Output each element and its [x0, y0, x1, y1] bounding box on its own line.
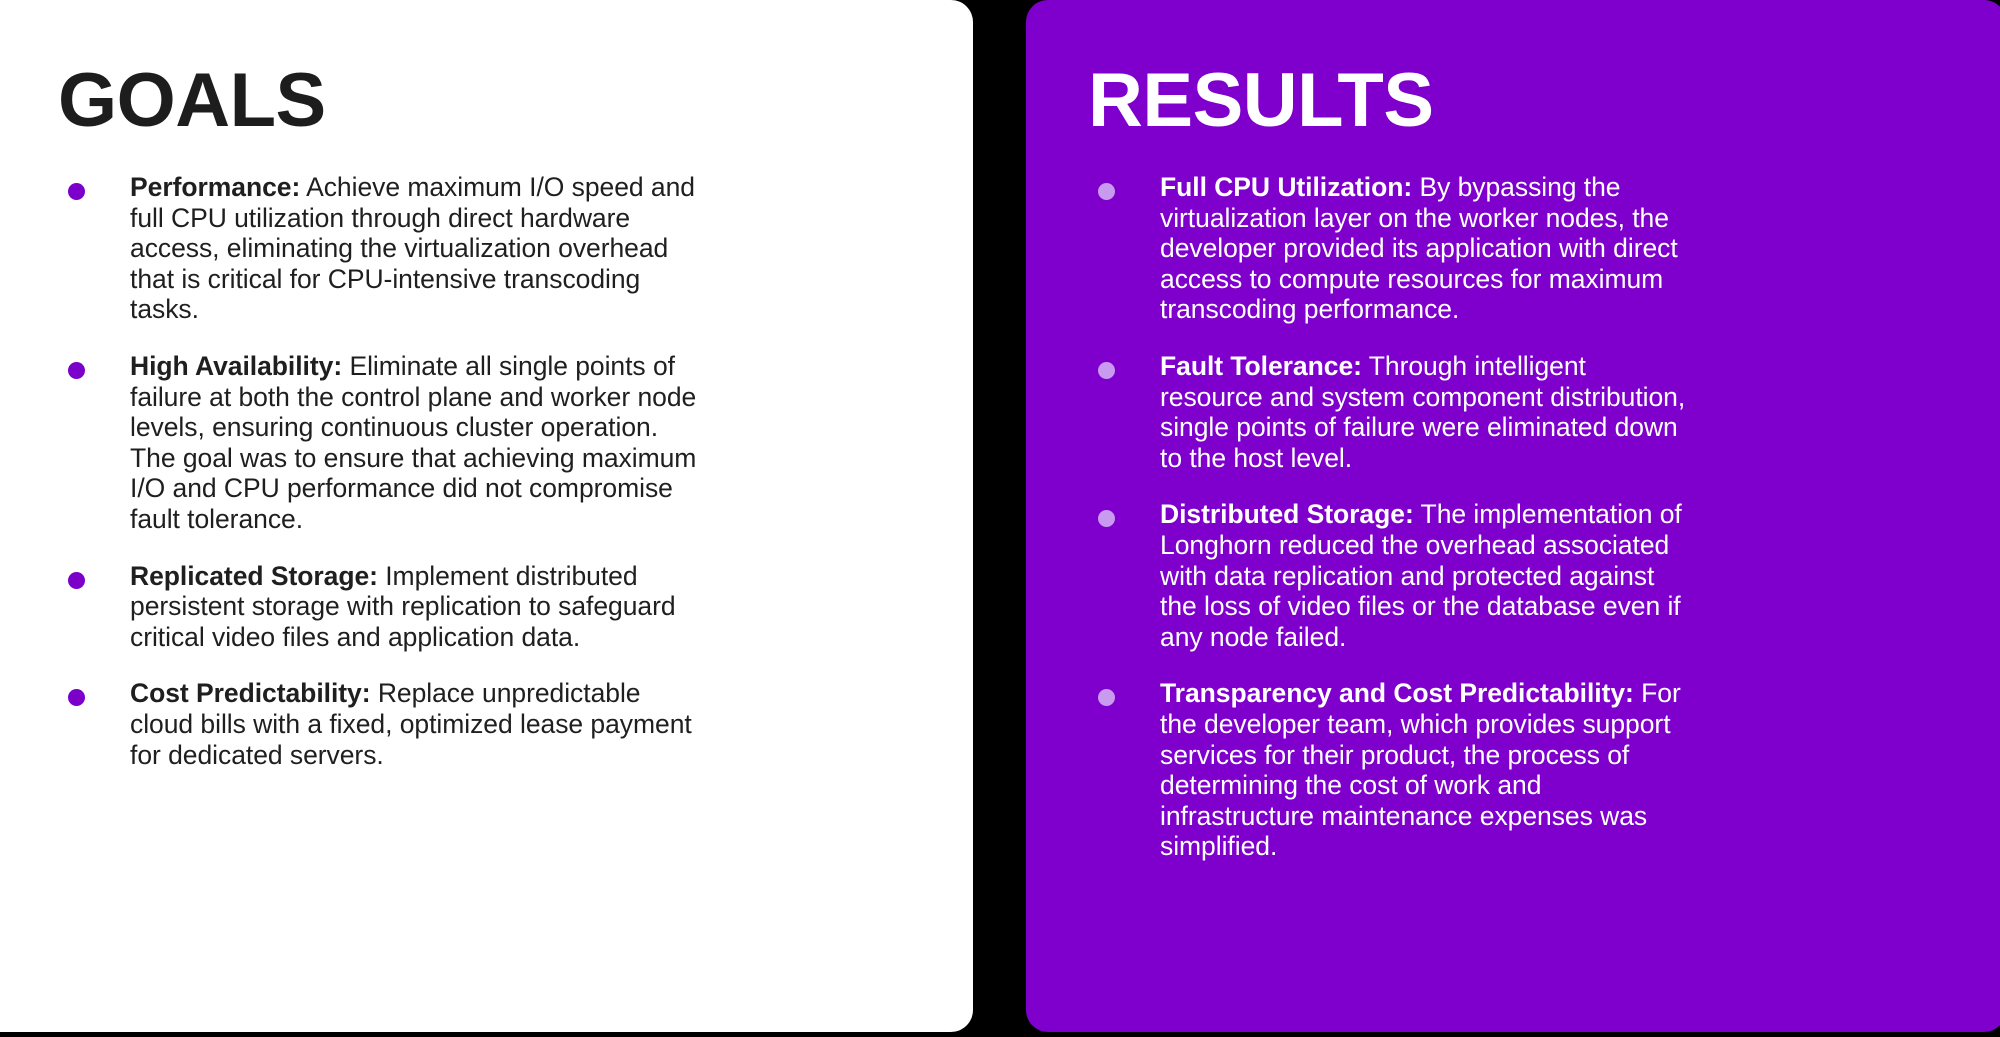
bullet-term: High Availability:: [130, 351, 342, 381]
results-bullet-list: Full CPU Utilization: By bypassing the v…: [1090, 172, 1690, 862]
list-item: Fault Tolerance: Through intelligent res…: [1090, 351, 1690, 473]
list-item: Performance: Achieve maximum I/O speed a…: [60, 172, 710, 325]
bullet-term: Distributed Storage:: [1160, 499, 1414, 529]
bullet-dot-icon: [1098, 689, 1115, 706]
bullet-term: Performance:: [130, 172, 300, 202]
bullet-dot-icon: [68, 572, 85, 589]
list-item: Full CPU Utilization: By bypassing the v…: [1090, 172, 1690, 325]
goals-heading: GOALS: [58, 63, 326, 139]
bullet-text: Replicated Storage: Implement distribute…: [130, 561, 710, 653]
bullet-text: Transparency and Cost Predictability: Fo…: [1160, 678, 1690, 862]
bullet-text: High Availability: Eliminate all single …: [130, 351, 710, 535]
list-item: Transparency and Cost Predictability: Fo…: [1090, 678, 1690, 862]
list-item: Replicated Storage: Implement distribute…: [60, 561, 710, 653]
bullet-term: Replicated Storage:: [130, 561, 378, 591]
bullet-text: Distributed Storage: The implementation …: [1160, 499, 1690, 652]
bullet-term: Fault Tolerance:: [1160, 351, 1362, 381]
bullet-text: Cost Predictability: Replace unpredictab…: [130, 678, 710, 770]
goals-bullet-list: Performance: Achieve maximum I/O speed a…: [60, 172, 710, 770]
list-item: Distributed Storage: The implementation …: [1090, 499, 1690, 652]
bullet-term: Full CPU Utilization:: [1160, 172, 1412, 202]
results-heading: RESULTS: [1088, 63, 1434, 139]
bullet-text: Fault Tolerance: Through intelligent res…: [1160, 351, 1690, 473]
bullet-dot-icon: [68, 362, 85, 379]
bullet-dot-icon: [1098, 510, 1115, 527]
bullet-dot-icon: [68, 689, 85, 706]
bullet-dot-icon: [1098, 183, 1115, 200]
slide-canvas: GOALS Performance: Achieve maximum I/O s…: [0, 0, 2000, 1037]
bullet-text: Performance: Achieve maximum I/O speed a…: [130, 172, 710, 325]
bullet-dot-icon: [68, 183, 85, 200]
list-item: Cost Predictability: Replace unpredictab…: [60, 678, 710, 770]
bullet-text: Full CPU Utilization: By bypassing the v…: [1160, 172, 1690, 325]
bullet-term: Transparency and Cost Predictability:: [1160, 678, 1634, 708]
bullet-dot-icon: [1098, 362, 1115, 379]
bullet-term: Cost Predictability:: [130, 678, 371, 708]
list-item: High Availability: Eliminate all single …: [60, 351, 710, 535]
